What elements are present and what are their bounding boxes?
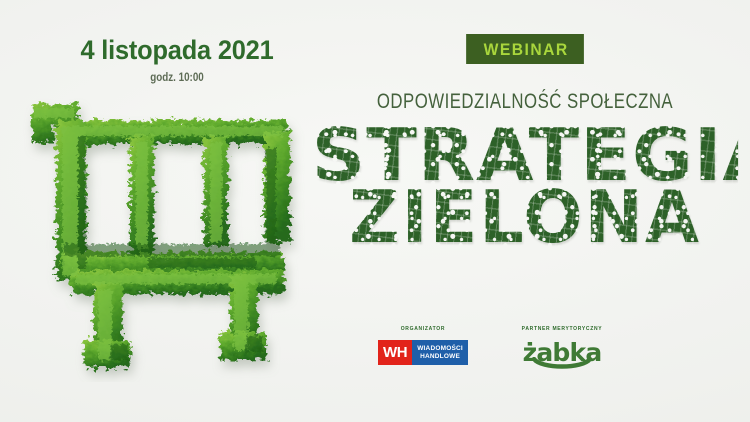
poster-subtitle: ODPOWIEDZIALNOŚĆ SPOŁECZNA <box>359 90 690 114</box>
event-date-block: 4 listopada 2021 godz. 10:00 <box>52 36 302 84</box>
shopping-cart-icon <box>18 92 318 382</box>
organizer-caption: ORGANIZATOR <box>378 326 468 332</box>
wiadomosci-handlowe-logo[interactable]: WH WIADOMOŚCI HANDLOWE <box>378 340 468 365</box>
title-line-strategia: STRATEGIA <box>312 122 738 188</box>
event-date: 4 listopada 2021 <box>60 36 295 64</box>
page-title: STRATEGIA ZIELONA <box>318 122 732 250</box>
partner-block: PARTNER MERYTORYCZNY żabka <box>514 326 610 370</box>
title-line-zielona: ZIELONA <box>324 184 726 250</box>
organizer-block: ORGANIZATOR WH WIADOMOŚCI HANDLOWE <box>378 326 468 365</box>
partner-caption: PARTNER MERYTORYCZNY <box>514 326 610 332</box>
zabka-smile-icon <box>531 357 593 371</box>
wh-wordmark-line-2: HANDLOWE <box>420 353 460 361</box>
webinar-badge: WEBINAR <box>466 34 584 64</box>
event-time: godz. 10:00 <box>75 70 280 84</box>
wh-monogram: WH <box>378 340 412 365</box>
wh-wordmark: WIADOMOŚCI HANDLOWE <box>412 340 468 365</box>
footer-logos: ORGANIZATOR WH WIADOMOŚCI HANDLOWE PARTN… <box>378 326 610 370</box>
zabka-logo[interactable]: żabka <box>514 340 610 370</box>
wh-wordmark-line-1: WIADOMOŚCI <box>417 345 463 353</box>
headline-column: WEBINAR ODPOWIEDZIALNOŚĆ SPOŁECZNA STRAT… <box>318 34 732 250</box>
webinar-poster: 4 listopada 2021 godz. 10:00 WEBINAR ODP… <box>0 0 750 422</box>
leafy-shopping-cart-illustration <box>18 92 318 382</box>
